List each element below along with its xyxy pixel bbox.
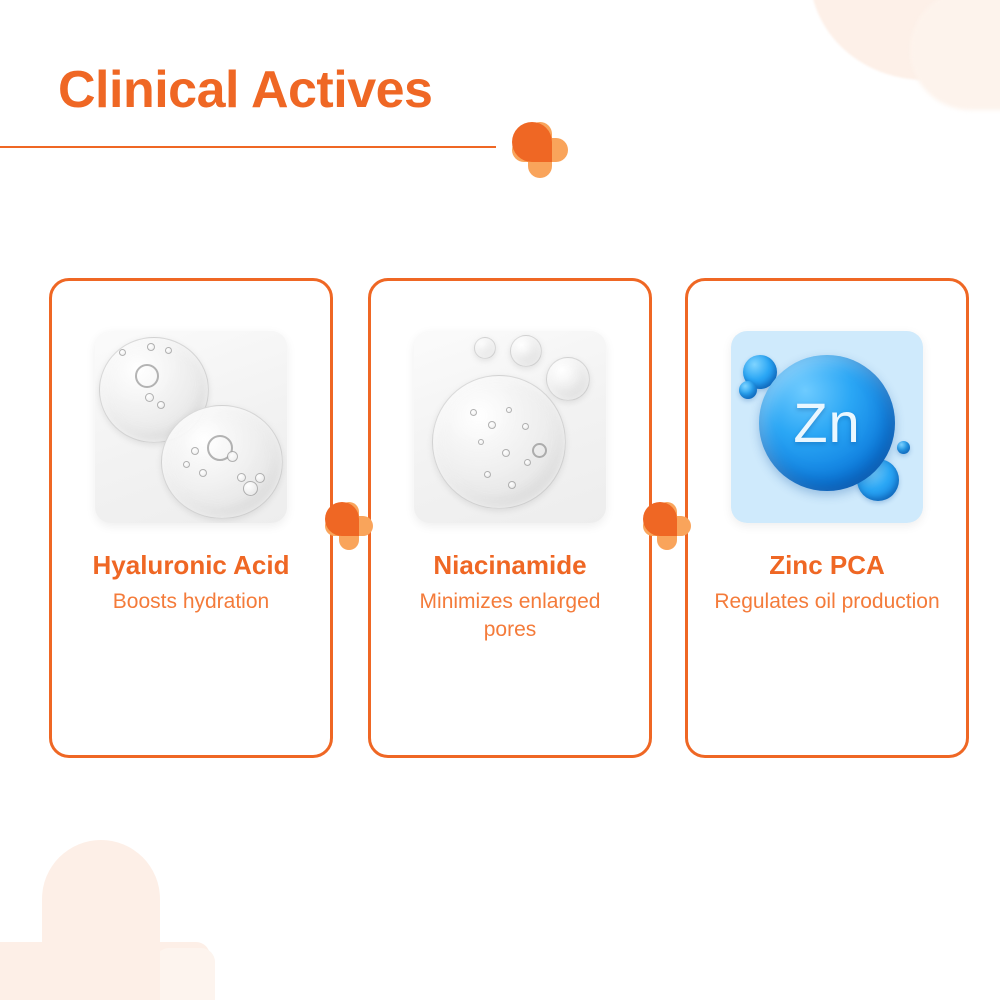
gel-bubble (502, 449, 510, 457)
gel-bubble (524, 459, 531, 466)
page-title: Clinical Actives (58, 62, 432, 119)
gel-blob (432, 375, 566, 509)
gel-bubble (157, 401, 165, 409)
zinc-bubble (739, 381, 757, 399)
active-card-title: Niacinamide (433, 551, 586, 581)
plus-dark-quadrant (512, 122, 552, 162)
gel-bubble (227, 451, 238, 462)
decor-blob-top-right-second (910, 0, 1000, 110)
gel-droplet (546, 357, 590, 401)
niacinamide-gel-photo (414, 331, 606, 523)
gel-bubble (119, 349, 126, 356)
gel-blob (161, 405, 283, 519)
gel-bubble (243, 481, 258, 496)
active-card-subtitle: Boosts hydration (113, 588, 269, 616)
gel-bubble (484, 471, 491, 478)
active-card-subtitle: Regulates oil production (714, 588, 939, 616)
hyaluronic-acid-gel-photo (95, 331, 287, 523)
gel-bubble (522, 423, 529, 430)
active-card-niacinamide[interactable]: Niacinamide Minimizes enlarged pores (368, 278, 652, 758)
connector-plus-clover-icon-2 (643, 502, 691, 550)
gel-bubble (147, 343, 155, 351)
gel-bubble (506, 407, 512, 413)
plus-dark-quadrant (325, 502, 359, 536)
active-card-hyaluronic-acid[interactable]: Hyaluronic Acid Boosts hydration (49, 278, 333, 758)
gel-bubble (237, 473, 246, 482)
decor-band-bottom-left (0, 942, 210, 1000)
gel-bubble (488, 421, 496, 429)
gel-bubble (145, 393, 154, 402)
active-card-title: Zinc PCA (769, 551, 885, 581)
decor-arch-bottom-left (42, 840, 160, 1000)
gel-bubble (165, 347, 172, 354)
gel-bubble (532, 443, 547, 458)
gel-bubble (191, 447, 199, 455)
zinc-symbol-label: Zn (793, 395, 860, 451)
gel-bubble (478, 439, 484, 445)
actives-card-row: Hyaluronic Acid Boosts hydration (0, 278, 1000, 762)
zinc-pca-molecule-icon: Zn (731, 331, 923, 523)
active-card-title: Hyaluronic Acid (93, 551, 290, 581)
gel-bubble (508, 481, 516, 489)
gel-bubble (470, 409, 477, 416)
gel-bubble (135, 364, 159, 388)
plus-dark-quadrant (643, 502, 677, 536)
active-card-subtitle: Minimizes enlarged pores (395, 588, 625, 645)
active-card-zinc-pca[interactable]: Zn Zinc PCA Regulates oil production (685, 278, 969, 758)
connector-plus-clover-icon-1 (325, 502, 373, 550)
gel-bubble (255, 473, 265, 483)
decor-blob-top-right (810, 0, 1000, 80)
zinc-sphere: Zn (759, 355, 895, 491)
gel-bubble (183, 461, 190, 468)
gel-droplet (474, 337, 496, 359)
gel-droplet (510, 335, 542, 367)
title-divider (0, 146, 496, 148)
zinc-tile-background: Zn (731, 331, 923, 523)
gel-bubble (199, 469, 207, 477)
gel-photo-background (414, 331, 606, 523)
plus-clover-icon (512, 122, 568, 178)
zinc-bubble (897, 441, 910, 454)
decor-band-bottom-left-small (155, 948, 215, 1000)
gel-photo-background (95, 331, 287, 523)
